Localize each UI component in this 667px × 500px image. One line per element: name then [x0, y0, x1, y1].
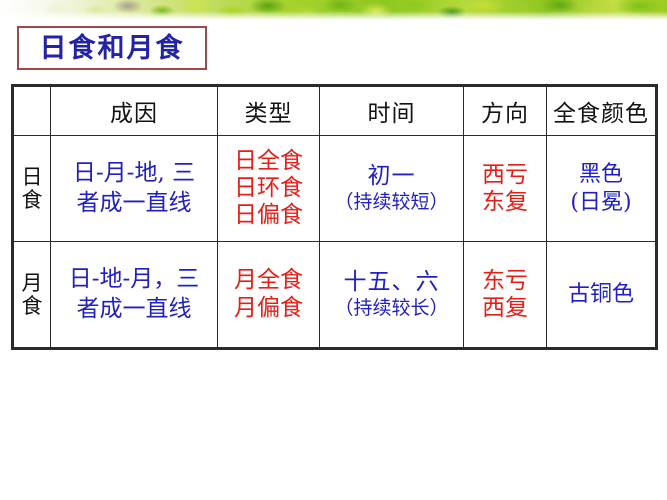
cause-line: 者成一直线 — [54, 189, 214, 218]
type-line: 月偏食 — [218, 295, 319, 322]
cell-solar-time: 初一 （持续较短） — [320, 136, 464, 242]
color-main: 黑色 — [547, 161, 655, 189]
cell-solar-cause: 日-月-地, 三 者成一直线 — [51, 136, 218, 242]
time-main: 十五、六 — [320, 268, 463, 297]
cell-solar-type: 日全食 日环食 日偏食 — [218, 136, 320, 242]
header-cell-time: 时间 — [320, 86, 464, 136]
cell-lunar-direction: 东亏 西复 — [464, 242, 547, 349]
time-note: （持续较长） — [320, 297, 463, 321]
row-label-char: 食 — [14, 189, 50, 212]
cell-lunar-totality-color: 古铜色 — [547, 242, 657, 349]
header-cell-blank — [13, 86, 51, 136]
table-row: 月 食 日-地-月，三 者成一直线 月全食 月偏食 十五、六 （持续 — [13, 242, 657, 349]
time-main: 初一 — [320, 162, 463, 191]
row-label-char: 食 — [14, 295, 50, 318]
table-row: 日 食 日-月-地, 三 者成一直线 日全食 日环食 日偏食 初一 — [13, 136, 657, 242]
cause-line: 日-月-地, 三 — [54, 159, 214, 188]
cause-line: 者成一直线 — [54, 295, 214, 324]
row-label-lunar-eclipse: 月 食 — [13, 242, 51, 349]
cell-lunar-cause: 日-地-月，三 者成一直线 — [51, 242, 218, 349]
row-label-char: 月 — [14, 272, 50, 295]
color-main: 古铜色 — [547, 281, 655, 309]
time-note: （持续较短） — [320, 191, 463, 215]
table-header-row: 成因 类型 时间 方向 全食颜色 — [13, 86, 657, 136]
eclipse-comparison-table: 成因 类型 时间 方向 全食颜色 日 食 日-月-地, 三 者成一直线 — [11, 84, 658, 350]
type-line: 日偏食 — [218, 202, 319, 229]
type-line: 月全食 — [218, 267, 319, 294]
direction-line: 西亏 — [464, 162, 546, 189]
direction-line: 西复 — [464, 295, 546, 322]
color-note: (日冕) — [547, 189, 655, 217]
row-label-char: 日 — [14, 166, 50, 189]
cell-solar-totality-color: 黑色 (日冕) — [547, 136, 657, 242]
cell-lunar-type: 月全食 月偏食 — [218, 242, 320, 349]
type-line: 日全食 — [218, 148, 319, 175]
direction-line: 东复 — [464, 189, 546, 216]
direction-line: 东亏 — [464, 268, 546, 295]
header-cell-cause: 成因 — [51, 86, 218, 136]
header-cell-totality-color: 全食颜色 — [547, 86, 657, 136]
slide-title-box: 日食和月食 — [17, 26, 207, 70]
header-cell-type: 类型 — [218, 86, 320, 136]
page-title: 日食和月食 — [40, 35, 185, 62]
cause-line: 日-地-月，三 — [54, 265, 214, 294]
cell-lunar-time: 十五、六 （持续较长） — [320, 242, 464, 349]
type-line: 日环食 — [218, 175, 319, 202]
leafy-banner-image — [0, 0, 667, 20]
row-label-solar-eclipse: 日 食 — [13, 136, 51, 242]
cell-solar-direction: 西亏 东复 — [464, 136, 547, 242]
header-cell-direction: 方向 — [464, 86, 547, 136]
